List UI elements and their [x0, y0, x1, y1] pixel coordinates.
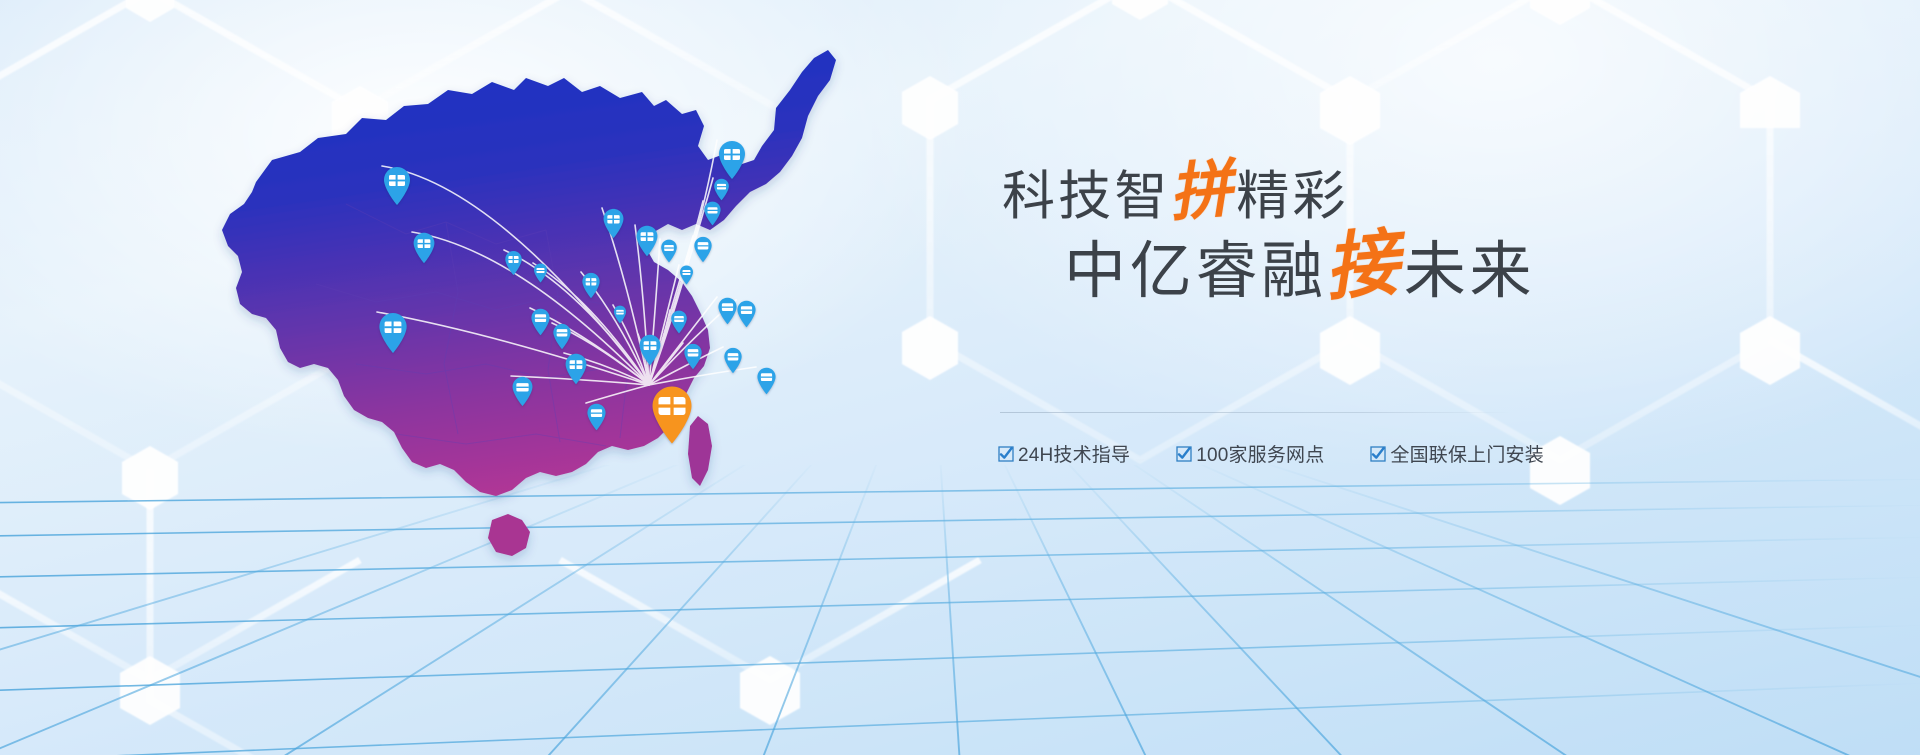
headline-2-accent: 接 — [1323, 226, 1402, 305]
headline-block: 科技智拼精彩 中亿睿融接未来 — [980, 170, 1600, 303]
feature-item: 24H技术指导 — [998, 440, 1130, 467]
headline-1-suffix: 精彩 — [1236, 168, 1348, 226]
feature-label: 100家服务网点 — [1196, 440, 1324, 467]
headline-divider — [1000, 412, 1512, 413]
feature-item: 100家服务网点 — [1176, 440, 1324, 467]
china-map — [196, 34, 856, 604]
feature-label: 24H技术指导 — [1018, 440, 1130, 467]
checkbox-icon — [1370, 446, 1386, 462]
feature-item: 全国联保上门安装 — [1370, 440, 1544, 467]
banner-stage: 科技智拼精彩 中亿睿融接未来 24H技术指导 100家服务网点 全国联保上门安装 — [0, 0, 1920, 755]
checkbox-icon — [998, 446, 1014, 462]
headline-line-1: 科技智拼精彩 — [980, 170, 1600, 224]
headline-2-prefix: 中亿睿融 — [1064, 238, 1327, 306]
checkbox-icon — [1176, 446, 1192, 462]
feature-list: 24H技术指导 100家服务网点 全国联保上门安装 — [998, 440, 1544, 467]
feature-label: 全国联保上门安装 — [1390, 440, 1544, 467]
headline-2-suffix: 未来 — [1404, 238, 1535, 306]
headline-1-prefix: 科技智 — [1002, 168, 1171, 226]
headline-1-accent: 拼 — [1167, 158, 1235, 226]
headline-line-2: 中亿睿融接未来 — [980, 240, 1600, 303]
